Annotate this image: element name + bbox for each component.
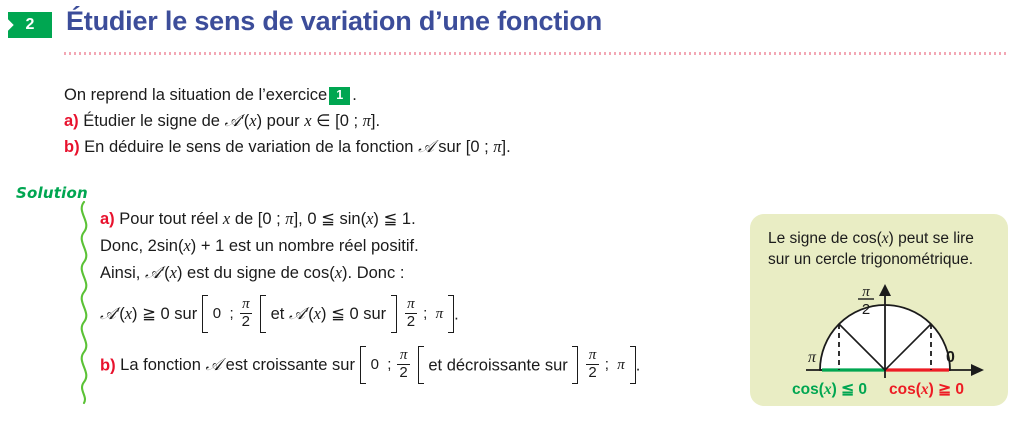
label-pi: π	[808, 349, 817, 366]
interval-0-pi-over-2-first: 0 ;π2	[202, 295, 266, 333]
solution-a-expr2: et 𝒜′(x) ≦ 0 sur	[271, 305, 387, 323]
solution-a-line1-text: Pour tout réel x de [0 ; π], 0 ≦ sin(x) …	[119, 210, 415, 228]
solution-a-period: .	[454, 305, 459, 323]
solution-a-line2: Donc, 2sin(x) + 1 est un nombre réel pos…	[100, 233, 740, 259]
solution-a-line3: Ainsi, 𝒜′(x) est du signe de cos(x). Don…	[100, 260, 740, 286]
solution-a-expr1: 𝒜′(x) ≧ 0 sur	[100, 305, 197, 323]
page-title: Étudier le sens de variation d’une fonct…	[66, 6, 602, 37]
exercise-number-badge: 2	[8, 12, 52, 38]
statement-item-b-marker: b)	[64, 138, 80, 156]
solution-a-line3-text: Ainsi, 𝒜′(x) est du signe de cos(x). Don…	[100, 264, 404, 282]
solution-wavy-brace	[74, 200, 94, 405]
legend-cos-negative: cos(x) ≦ 0	[792, 381, 867, 398]
exercise-number: 2	[26, 16, 35, 34]
fraction-pi-over-2: π2	[397, 347, 409, 381]
solution-b-text2: et décroissante sur	[428, 356, 567, 374]
legend-cos-positive: cos(x) ≧ 0	[889, 381, 964, 398]
solution-b-line: b) La fonction 𝒜 est croissante sur 0 ;π…	[100, 347, 740, 385]
svg-text:π: π	[862, 284, 870, 300]
solution-body: a) Pour tout réel x de [0 ; π], 0 ≦ sin(…	[100, 206, 740, 386]
fraction-pi-over-2: π2	[405, 296, 417, 330]
statement-intro-period: .	[352, 86, 357, 104]
info-box-text: Le signe de cos(x) peut se lire sur un c…	[762, 228, 996, 270]
fraction-pi-over-2: π2	[586, 347, 598, 381]
solution-item-a-marker: a)	[100, 210, 115, 228]
fraction-pi-over-2: π2	[240, 296, 252, 330]
y-axis-arrow	[879, 284, 891, 296]
interval-0-pi-over-2-second: 0 ;π2	[360, 346, 424, 384]
solution-b-text1: La fonction 𝒜 est croissante sur	[120, 356, 355, 374]
title-divider	[64, 52, 1008, 55]
solution-b-period: .	[636, 356, 641, 374]
label-zero: 0	[946, 349, 955, 366]
x-axis-arrow	[971, 364, 984, 376]
referenced-exercise-badge: 1	[329, 87, 350, 105]
statement-item-a: a) Étudier le signe de 𝒜′(x) pour x ∈ [0…	[64, 108, 744, 134]
solution-a-line2-text: Donc, 2sin(x) + 1 est un nombre réel pos…	[100, 237, 419, 255]
info-box-text-line2: sur un cercle trigonométrique.	[768, 249, 996, 270]
exercise-statement: On reprend la situation de l’exercice1. …	[64, 83, 744, 160]
info-box-text-line1: Le signe de cos(x) peut se lire	[768, 228, 996, 249]
interval-pi-over-2-pi-second: π2; π	[572, 346, 635, 384]
solution-a-line1: a) Pour tout réel x de [0 ; π], 0 ≦ sin(…	[100, 206, 740, 232]
trigonometric-circle-figure: π 2 π 0 cos(x) ≦ 0 cos(x) ≧ 0	[778, 282, 992, 400]
statement-intro-line: On reprend la situation de l’exercice1.	[64, 83, 744, 108]
statement-item-b-text: En déduire le sens de variation de la fo…	[84, 138, 511, 156]
statement-item-a-marker: a)	[64, 112, 79, 130]
solution-a-line4: 𝒜′(x) ≧ 0 sur 0 ;π2 et 𝒜′(x) ≦ 0 sur π2;…	[100, 296, 740, 334]
solution-item-b-marker: b)	[100, 356, 116, 374]
statement-item-b: b) En déduire le sens de variation de la…	[64, 134, 744, 160]
svg-text:2: 2	[862, 301, 870, 318]
statement-item-a-text: Étudier le signe de 𝒜′(x) pour x ∈ [0 ; …	[83, 112, 380, 130]
info-box: Le signe de cos(x) peut se lire sur un c…	[750, 214, 1008, 406]
interval-pi-over-2-pi-first: π2; π	[391, 295, 454, 333]
statement-intro-text: On reprend la situation de l’exercice	[64, 86, 327, 104]
